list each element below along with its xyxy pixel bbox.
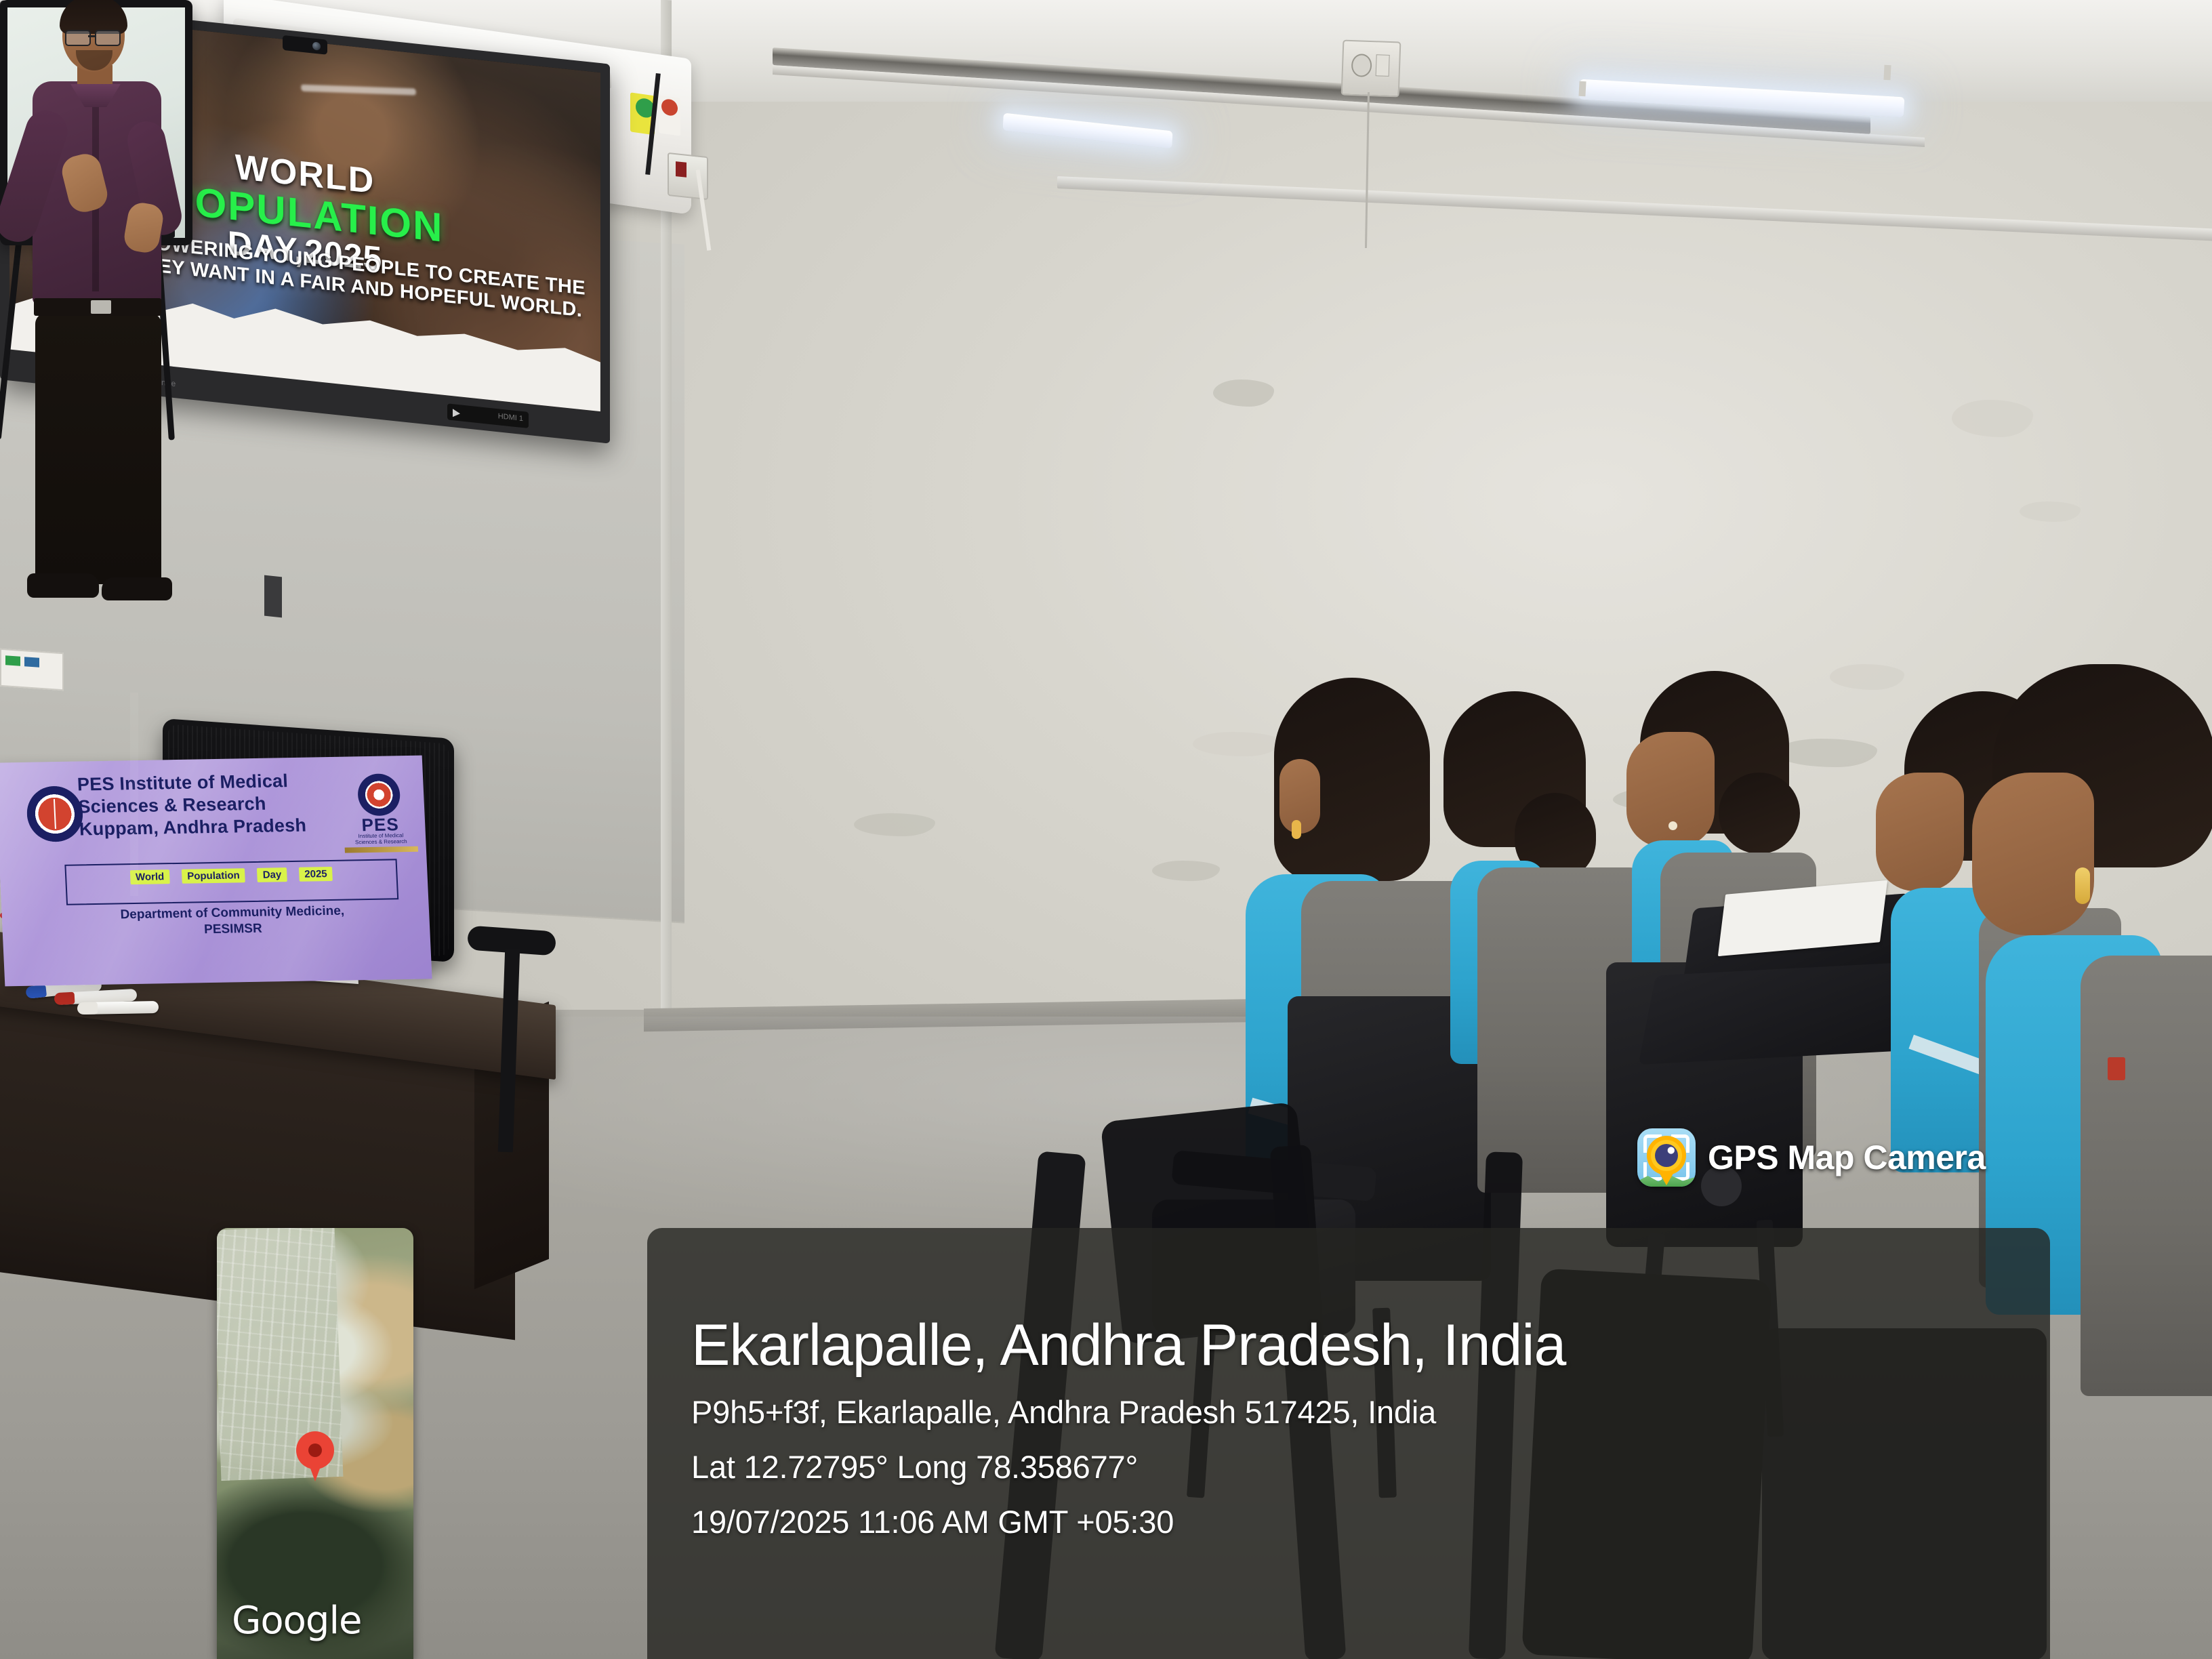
indicator-green-icon bbox=[5, 655, 20, 666]
event-banner: PES Institute of Medical Sciences & Rese… bbox=[0, 756, 432, 987]
eyeglasses-right-lens-icon bbox=[95, 30, 121, 46]
wall-socket-box[interactable] bbox=[1341, 40, 1401, 98]
person-uniform-vest bbox=[2081, 956, 2212, 1396]
pes-logo-sub-2: Sciences & Research bbox=[344, 839, 417, 846]
presenter-shoe-left bbox=[27, 573, 99, 598]
person-face bbox=[1972, 773, 2094, 935]
pes-logo: PES Institute of Medical Sciences & Rese… bbox=[342, 773, 418, 853]
gps-map-camera-badge: GPS Map Camera bbox=[1637, 1128, 1998, 1187]
trouser-seam bbox=[130, 693, 138, 896]
gps-location-title: Ekarlapalle, Andhra Pradesh, India bbox=[691, 1316, 2030, 1376]
switch-icon bbox=[1376, 54, 1390, 77]
presenter-hair bbox=[60, 0, 127, 34]
pes-logo-word: PES bbox=[344, 815, 417, 834]
person-earring-icon bbox=[2075, 867, 2090, 904]
indicator-blue-icon bbox=[24, 657, 39, 668]
junction-indicator bbox=[676, 161, 687, 178]
marker-cap bbox=[77, 1002, 98, 1015]
socket-icon bbox=[1351, 54, 1372, 77]
presenter-shoe-right bbox=[102, 577, 172, 600]
gps-map-camera-icon bbox=[1637, 1128, 1696, 1187]
pin-dot bbox=[308, 1443, 322, 1457]
banner-title-line-3: Kuppam, Andhra Pradesh bbox=[79, 814, 346, 841]
person-earring-icon bbox=[1292, 820, 1301, 839]
gps-coordinates-line: Lat 12.72795° Long 78.358677° bbox=[691, 1448, 2030, 1486]
map-thumbnail[interactable]: Google bbox=[217, 1228, 413, 1659]
banner-title: PES Institute of Medical Sciences & Rese… bbox=[77, 769, 346, 841]
belt-buckle bbox=[91, 300, 111, 314]
banner-chip-row: World Population Day 2025 bbox=[66, 865, 396, 885]
banner-chip-population: Population bbox=[182, 868, 245, 884]
gps-app-label: GPS Map Camera bbox=[1708, 1138, 1986, 1177]
person-earring-icon bbox=[1668, 821, 1677, 830]
gps-address-line: P9h5+f3f, Ekarlapalle, Andhra Pradesh 51… bbox=[691, 1393, 2030, 1431]
uniform-badge bbox=[2108, 1057, 2125, 1080]
light-holder bbox=[1883, 65, 1891, 80]
map-pin-icon bbox=[296, 1431, 334, 1481]
display-input-label: HDMI 1 bbox=[498, 412, 523, 423]
camera-lens-icon bbox=[1651, 1140, 1682, 1171]
marker-cap bbox=[25, 985, 47, 999]
gps-timestamp-line: 19/07/2025 11:06 AM GMT +05:30 bbox=[691, 1503, 2030, 1540]
display-wall-mount bbox=[264, 575, 282, 618]
google-attribution: Google bbox=[232, 1599, 361, 1643]
banner-department: Department of Community Medicine, PESIMS… bbox=[62, 902, 403, 940]
photo-canvas: WORLD POPULATION DAY,2025 THEME: EMPOWER… bbox=[0, 0, 2212, 1659]
gps-info-content: Ekarlapalle, Andhra Pradesh, India P9h5+… bbox=[691, 1316, 2030, 1540]
marker-cap bbox=[54, 992, 75, 1006]
eyeglasses-left-lens-icon bbox=[65, 30, 91, 46]
gps-info-panel: Ekarlapalle, Andhra Pradesh, India P9h5+… bbox=[647, 1228, 2050, 1659]
person-hair-bun bbox=[1719, 773, 1800, 854]
light-holder bbox=[1578, 81, 1586, 96]
wall-indicator-panel bbox=[0, 649, 64, 691]
banner-chip-year: 2025 bbox=[299, 867, 333, 882]
pes-star-icon bbox=[357, 773, 401, 816]
whiteboard-marker[interactable] bbox=[79, 1001, 159, 1015]
pin-tail bbox=[306, 1456, 325, 1481]
banner-chip-day: Day bbox=[257, 867, 287, 882]
person-face bbox=[1876, 773, 1964, 891]
eyeglasses-bridge-icon bbox=[88, 35, 96, 37]
presenter-trousers bbox=[35, 313, 161, 584]
banner-chip-box: World Population Day 2025 bbox=[64, 859, 398, 905]
